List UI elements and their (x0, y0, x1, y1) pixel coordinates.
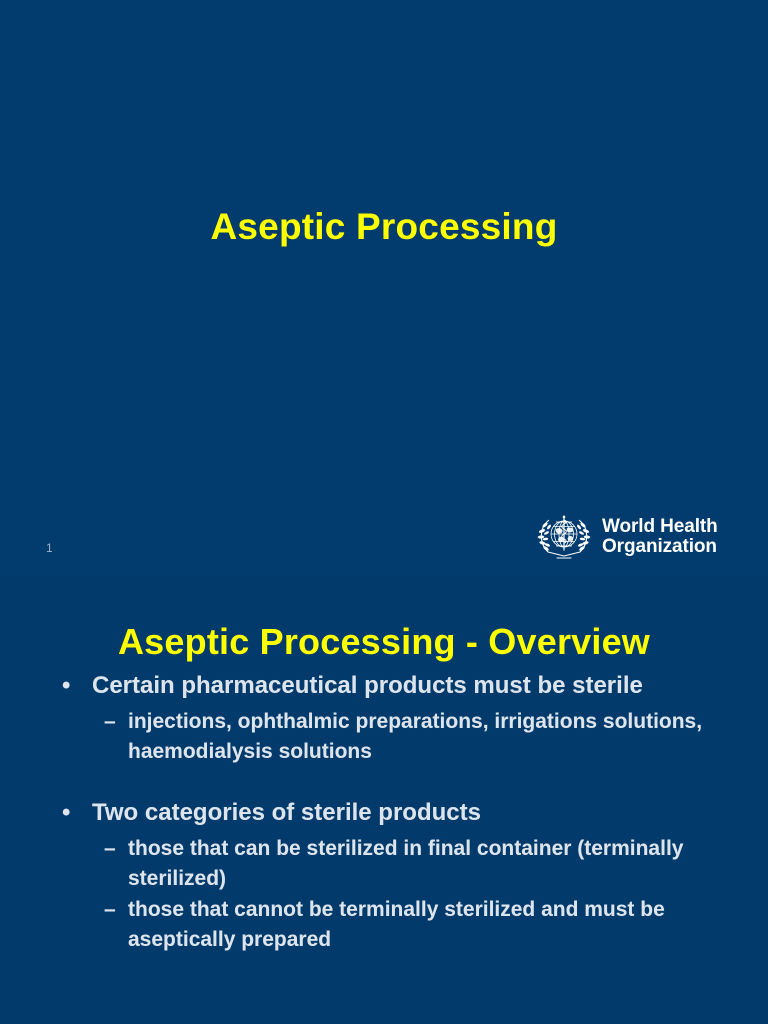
dash-marker: – (104, 707, 116, 737)
list-item-text: injections, ophthalmic preparations, irr… (128, 710, 702, 763)
slide-title-slide: Aseptic Processing 1 (0, 0, 768, 576)
who-logo: World Health Organization (534, 511, 740, 563)
slide-title: Aseptic Processing - Overview (0, 622, 768, 662)
list-item: – those that can be sterilized in final … (0, 834, 768, 894)
list-item: – those that cannot be terminally steril… (0, 895, 768, 955)
who-wordmark: World Health Organization (602, 517, 718, 556)
slide-overview-slide: Aseptic Processing - Overview • Certain … (0, 576, 768, 1024)
page-title: Aseptic Processing (0, 207, 768, 248)
who-wordmark-line1: World Health (602, 517, 718, 537)
slide-deck: Aseptic Processing 1 (0, 0, 768, 1024)
bullet-marker: • (62, 795, 70, 830)
list-item: • Two categories of sterile products (0, 795, 768, 830)
slide-number: 1 (46, 541, 53, 555)
who-emblem-icon (534, 512, 594, 562)
list-item-text: Certain pharmaceutical products must be … (92, 672, 643, 699)
list-item: – injections, ophthalmic preparations, i… (0, 707, 768, 767)
list-item-text: Two categories of sterile products (92, 799, 481, 826)
list-spacer (0, 769, 768, 795)
list-item: • Certain pharmaceutical products must b… (0, 668, 768, 703)
who-wordmark-line2: Organization (602, 537, 718, 557)
list-item-text: those that can be sterilized in final co… (128, 837, 683, 890)
bullet-list: • Certain pharmaceutical products must b… (0, 668, 768, 957)
list-item-text: those that cannot be terminally steriliz… (128, 898, 665, 951)
dash-marker: – (104, 895, 116, 925)
bullet-marker: • (62, 668, 70, 703)
dash-marker: – (104, 834, 116, 864)
